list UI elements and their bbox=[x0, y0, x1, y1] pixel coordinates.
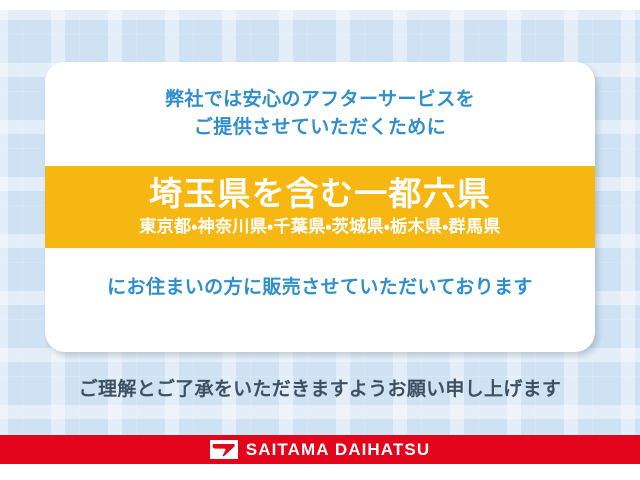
service-area-prefectures: 東京都・神奈川県・千葉県・茨城県・栃木県・群馬県 bbox=[139, 216, 501, 239]
intro-line-2: ご提供させていただくために bbox=[194, 114, 446, 142]
top-white-margin bbox=[0, 0, 640, 10]
brand-bar: SAITAMA DAIHATSU bbox=[0, 435, 640, 464]
outro-line: にお住まいの方に販売させていただいております bbox=[107, 274, 533, 302]
daihatsu-logo-icon bbox=[210, 440, 238, 459]
service-area-band: 埼玉県を含む一都六県 東京都・神奈川県・千葉県・茨城県・栃木県・群馬県 bbox=[45, 166, 595, 248]
bottom-white-margin bbox=[0, 464, 640, 480]
card-intro-section: 弊社では安心のアフターサービスを ご提供させていただくために bbox=[45, 62, 595, 166]
brand-name-label: SAITAMA DAIHATSU bbox=[246, 440, 430, 460]
intro-line-1: 弊社では安心のアフターサービスを bbox=[165, 86, 475, 114]
notice-screen: 弊社では安心のアフターサービスを ご提供させていただくために 埼玉県を含む一都六… bbox=[0, 0, 640, 480]
notice-card: 弊社では安心のアフターサービスを ご提供させていただくために 埼玉県を含む一都六… bbox=[45, 62, 595, 352]
closing-statement: ご理解とご了承をいただきますようお願い申し上げます bbox=[0, 374, 640, 401]
service-area-headline: 埼玉県を含む一都六県 bbox=[149, 173, 491, 214]
card-outro-section: にお住まいの方に販売させていただいております bbox=[45, 248, 595, 328]
